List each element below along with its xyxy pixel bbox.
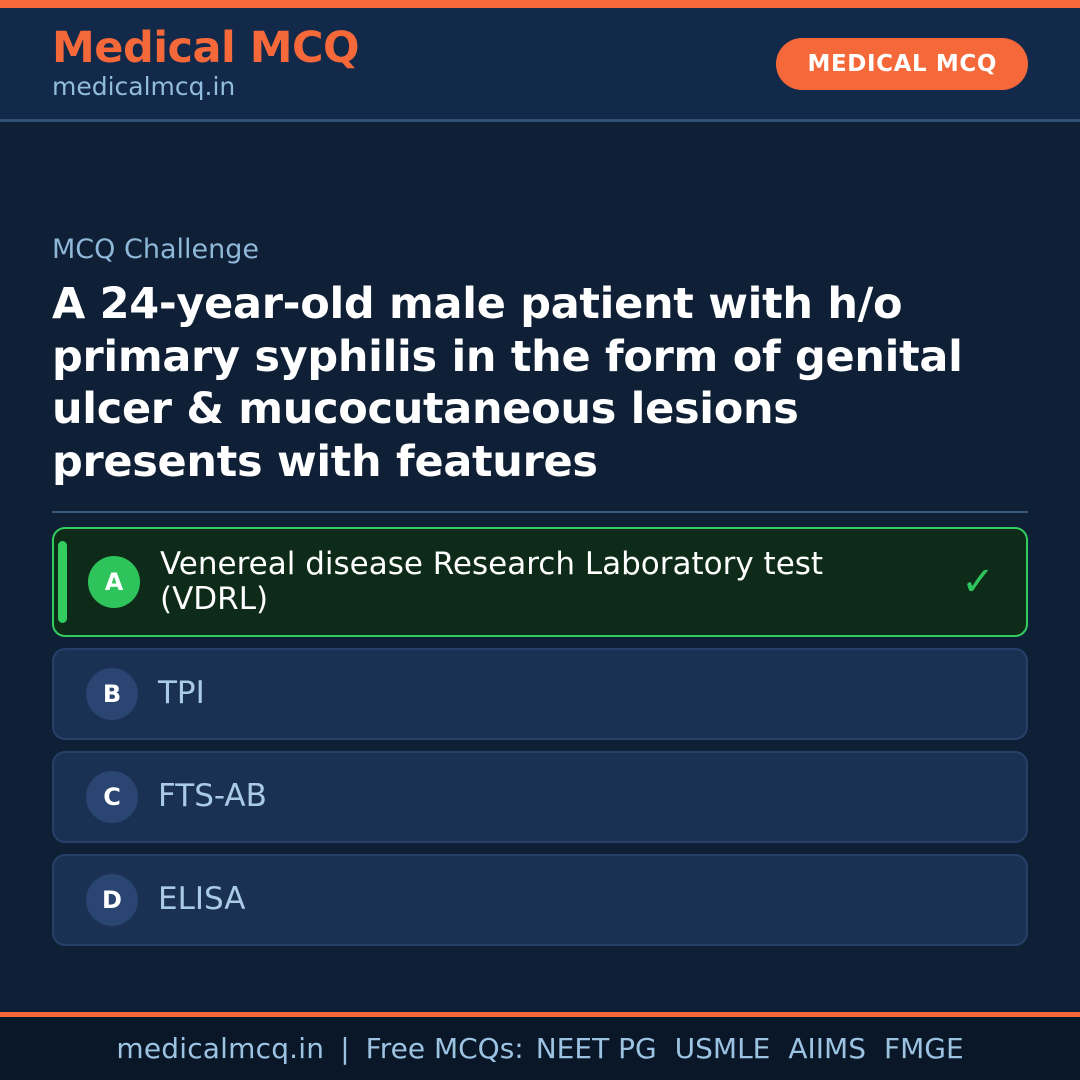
footer-free-mcqs-label: Free MCQs: [366, 1032, 536, 1065]
brand-title: Medical MCQ [52, 26, 359, 71]
options-list: A Venereal disease Research Laboratory t… [52, 527, 1028, 945]
site-footer: medicalmcq.in | Free MCQs: NEET PG USMLE… [0, 1012, 1080, 1080]
question-area: MCQ Challenge A 24-year-old male patient… [0, 122, 1080, 1012]
option-text-b: TPI [158, 676, 1000, 711]
option-letter-badge-c: C [86, 771, 138, 823]
option-row-a[interactable]: A Venereal disease Research Laboratory t… [52, 527, 1028, 636]
option-text-a: Venereal disease Research Laboratory tes… [160, 547, 936, 616]
option-letter-badge-d: D [86, 874, 138, 926]
option-text-d: ELISA [158, 882, 1000, 917]
check-icon: ✓ [956, 562, 1000, 602]
option-letter-badge-a: A [88, 556, 140, 608]
footer-exam-aiims[interactable]: AIIMS [788, 1032, 866, 1065]
option-text-c: FTS-AB [158, 779, 1000, 814]
brand-block: Medical MCQ medicalmcq.in [52, 26, 359, 101]
footer-exam-list: NEET PG USMLE AIIMS FMGE [536, 1032, 964, 1065]
option-letter-badge-b: B [86, 668, 138, 720]
footer-site-link[interactable]: medicalmcq.in [116, 1032, 324, 1065]
question-text: A 24-year-old male patient with h/o prim… [52, 278, 1012, 488]
top-accent-bar [0, 0, 1080, 8]
option-row-b[interactable]: B TPI [52, 648, 1028, 740]
footer-exam-usmle[interactable]: USMLE [675, 1032, 771, 1065]
site-header: Medical MCQ medicalmcq.in MEDICAL MCQ [0, 8, 1080, 122]
section-divider [52, 511, 1028, 513]
option-row-c[interactable]: C FTS-AB [52, 751, 1028, 843]
header-badge[interactable]: MEDICAL MCQ [776, 38, 1028, 90]
footer-exam-neetpg[interactable]: NEET PG [536, 1032, 657, 1065]
brand-subtitle: medicalmcq.in [52, 73, 359, 101]
mcq-card: Medical MCQ medicalmcq.in MEDICAL MCQ MC… [0, 0, 1080, 1080]
footer-exam-fmge[interactable]: FMGE [884, 1032, 964, 1065]
footer-separator: | [324, 1032, 365, 1065]
option-row-d[interactable]: D ELISA [52, 854, 1028, 946]
eyebrow-label: MCQ Challenge [52, 234, 1028, 266]
